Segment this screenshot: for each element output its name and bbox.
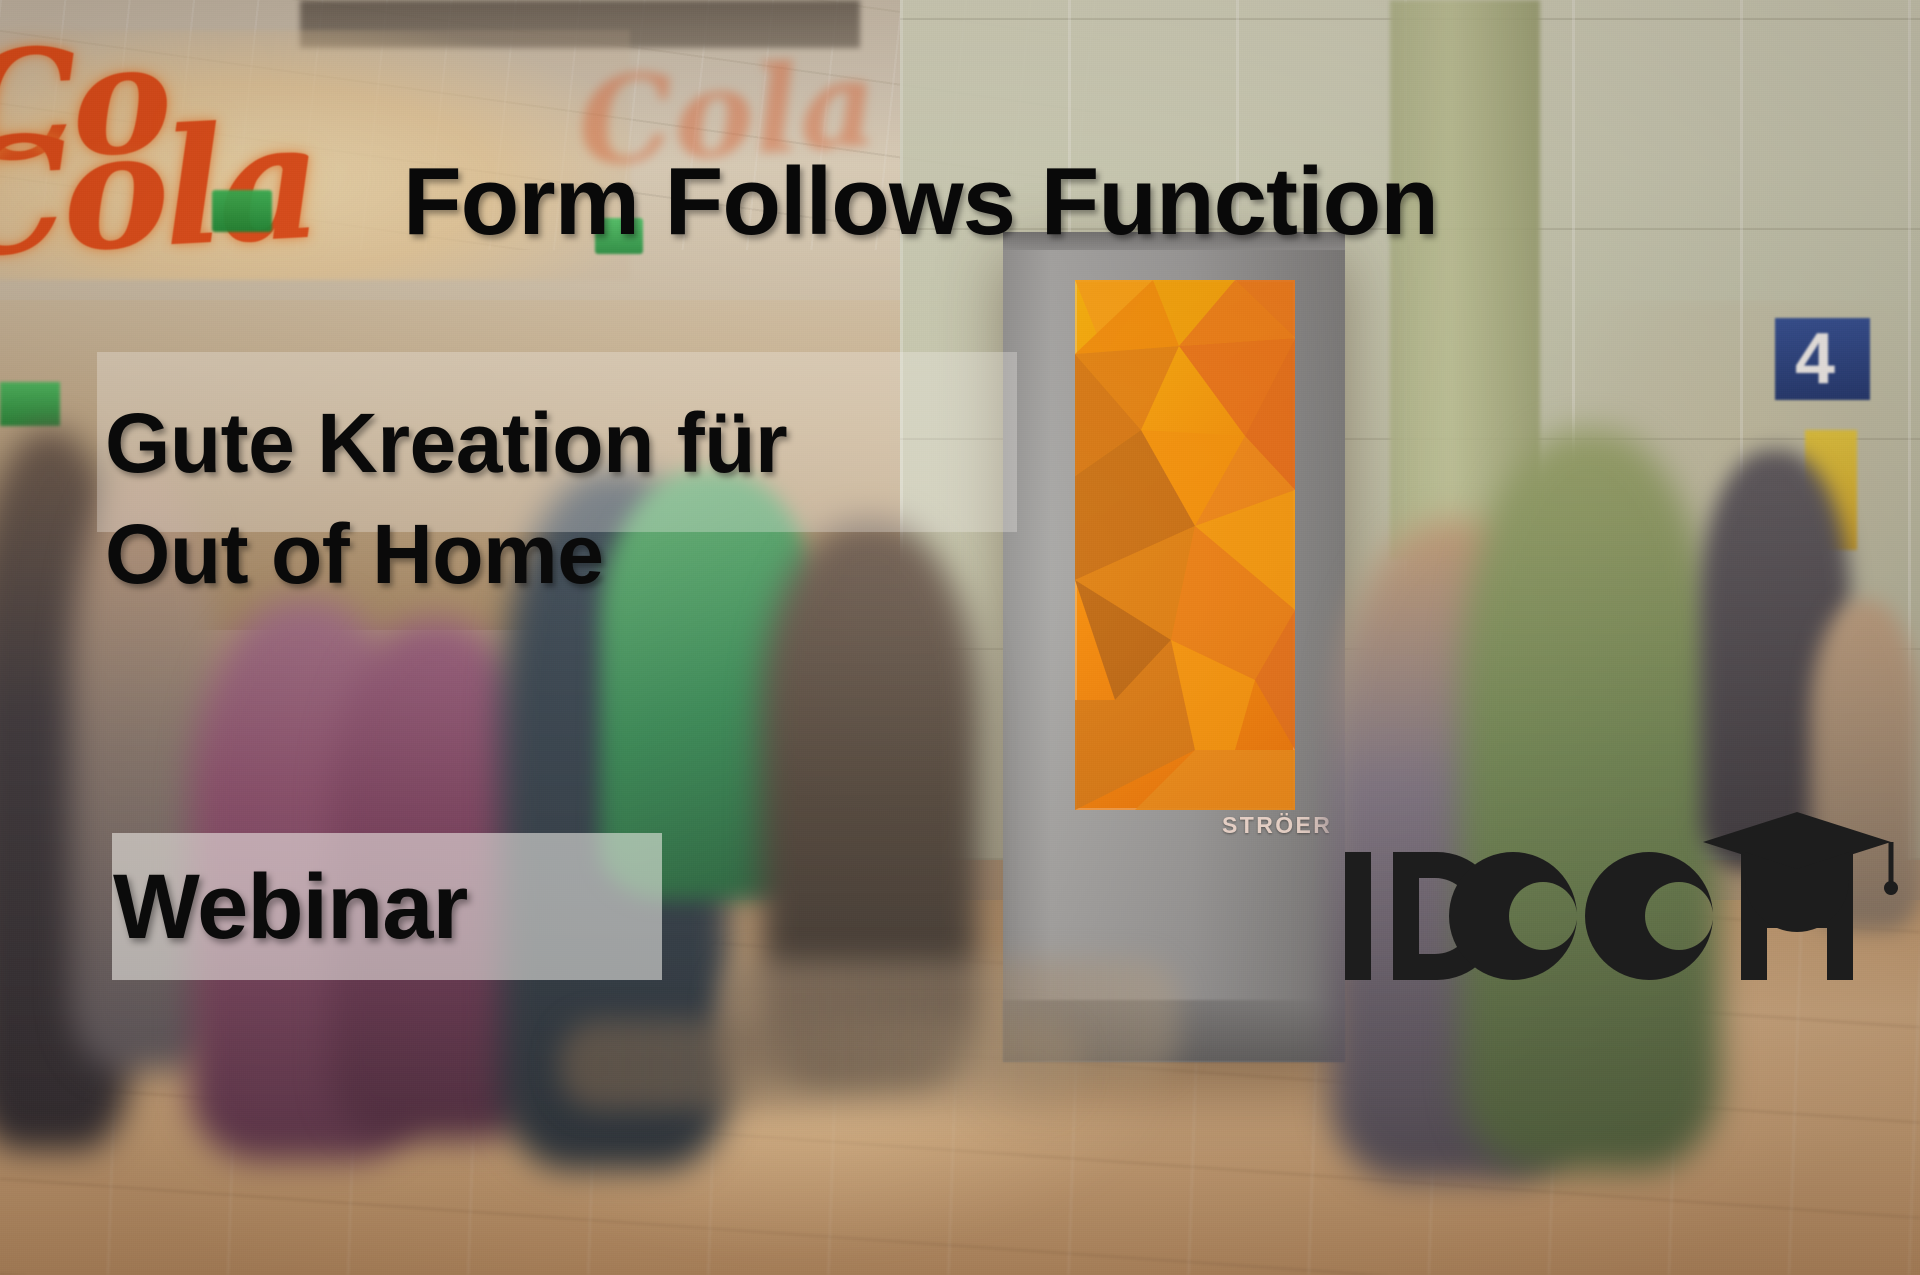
stroer-brand-logo: STRÖER <box>1222 812 1332 839</box>
idooh-logo: IDOOH <box>1345 830 1905 990</box>
subtitle: Gute Kreation für Out of Home <box>105 388 787 610</box>
webinar-badge: Webinar <box>113 855 467 960</box>
page-title: Form Follows Function <box>403 147 1438 257</box>
webinar-title-slide: Co Cola Cola 4 <box>0 0 1920 1275</box>
subtitle-line-2: Out of Home <box>105 499 787 610</box>
person-silhouette <box>1460 430 1720 1170</box>
totem-ad-screen <box>1075 280 1295 810</box>
platform-number: 4 <box>1795 318 1835 400</box>
graduation-cap-icon <box>1703 812 1898 932</box>
subtitle-line-1: Gute Kreation für <box>105 388 787 499</box>
motion-blur-streak <box>560 1020 1080 1110</box>
emergency-exit-sign-3 <box>0 382 60 426</box>
idooh-logo-graphic <box>1345 830 1905 1002</box>
emergency-exit-sign <box>212 190 272 232</box>
